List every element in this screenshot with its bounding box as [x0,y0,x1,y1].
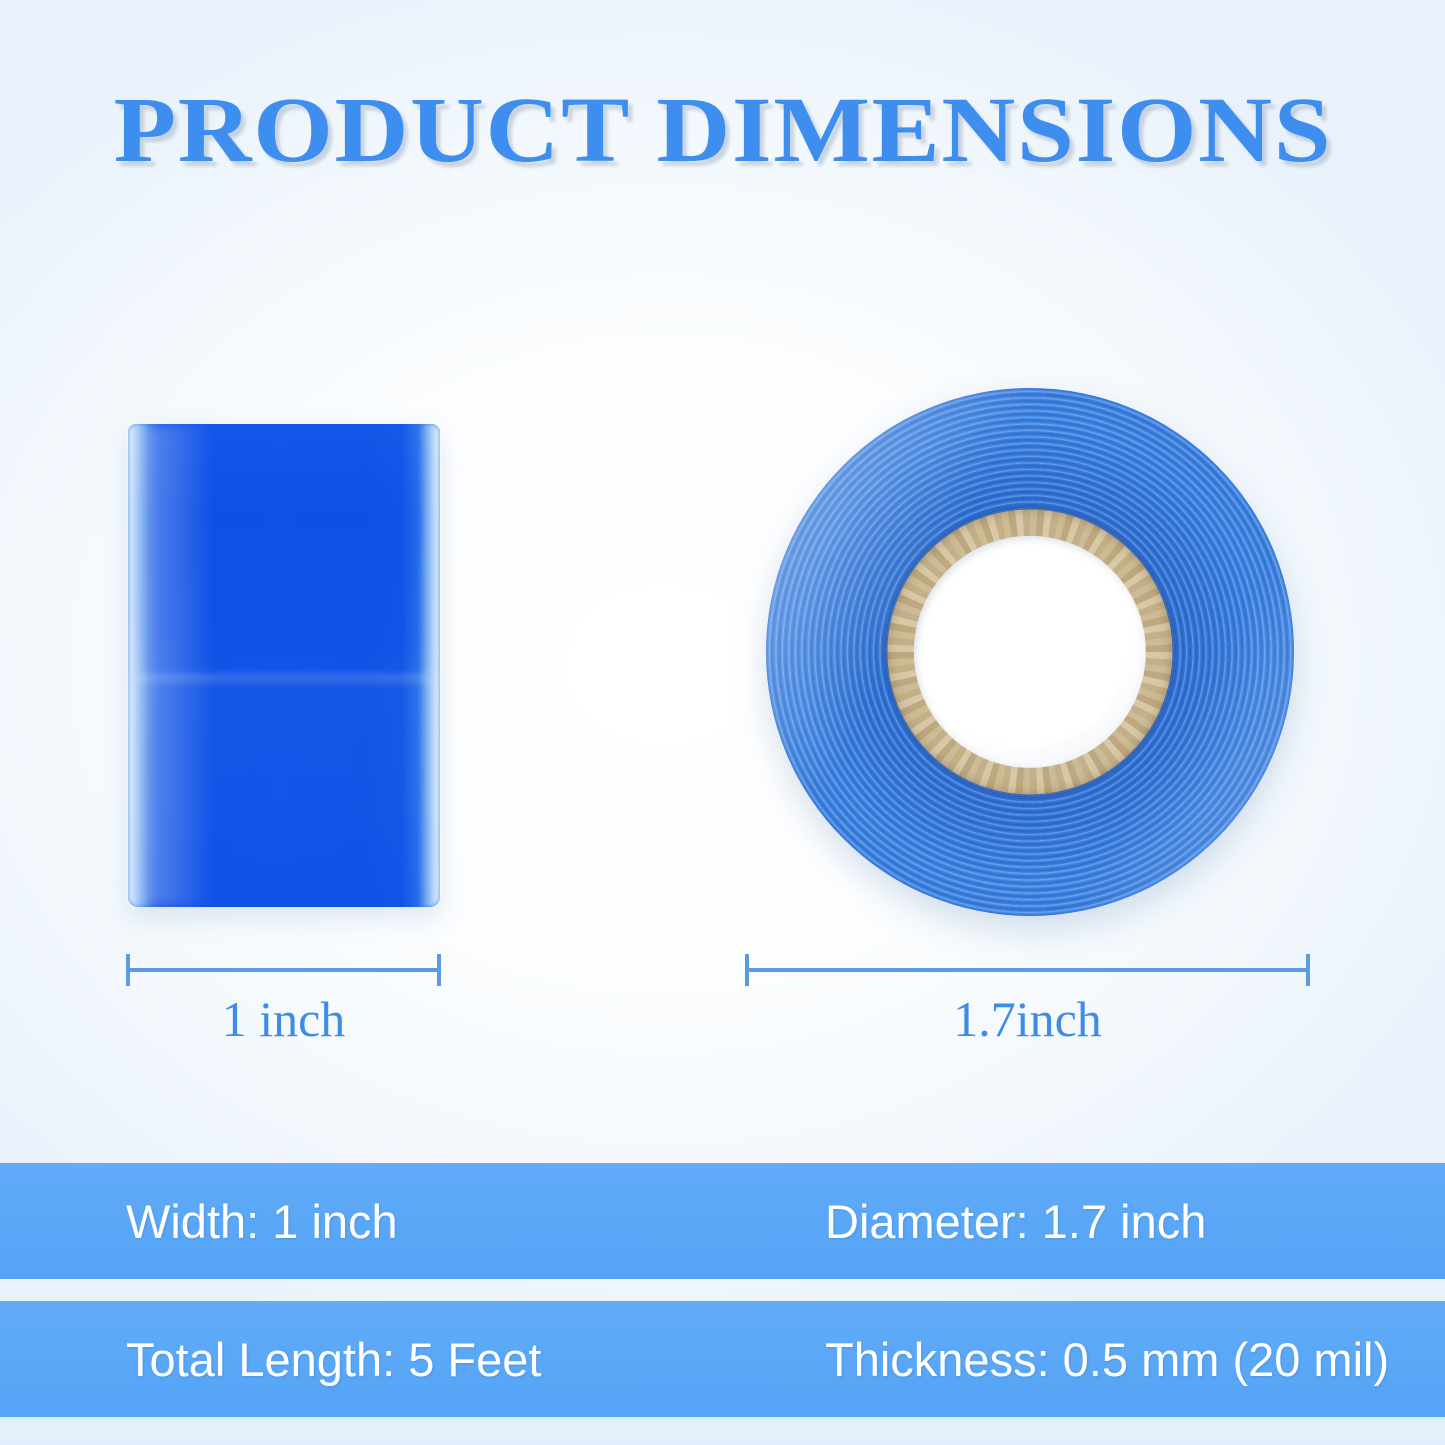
tape-side-body [128,424,440,907]
dimension-label-diameter: 1.7inch [745,990,1310,1048]
spec-thickness: Thickness: 0.5 mm (20 mil) [825,1332,1389,1387]
page-title: PRODUCT DIMENSIONS [113,84,1332,177]
spec-diameter: Diameter: 1.7 inch [825,1194,1206,1249]
tape-side-right-edge [420,424,440,907]
tape-side-left-edge [128,424,148,907]
dimension-cap-start [126,954,130,986]
tape-roll-center-hole [935,557,1125,747]
product-image-tape-roll-front-view [766,388,1294,916]
product-dimensions-infographic: PRODUCT DIMENSIONS 1 inch 1.7inch Width:… [0,0,1445,1445]
tape-side-seam [137,675,430,685]
spec-bar-row-2: Total Length: 5 Feet Thickness: 0.5 mm (… [0,1301,1445,1417]
dimension-cap-end [1306,954,1310,986]
dimension-cap-start [745,954,749,986]
product-image-tape-roll-side-view [128,424,440,907]
dimension-label-width: 1 inch [126,990,441,1048]
spec-bar-row-1: Width: 1 inch Diameter: 1.7 inch [0,1163,1445,1279]
spec-total-length: Total Length: 5 Feet [126,1332,541,1387]
dimension-line [745,968,1310,972]
dimension-line [126,968,441,972]
bottom-strip [0,1417,1445,1445]
tape-side-gloss [140,424,209,907]
page-title-container: PRODUCT DIMENSIONS [0,84,1445,177]
spec-width: Width: 1 inch [126,1194,398,1249]
dimension-cap-end [437,954,441,986]
